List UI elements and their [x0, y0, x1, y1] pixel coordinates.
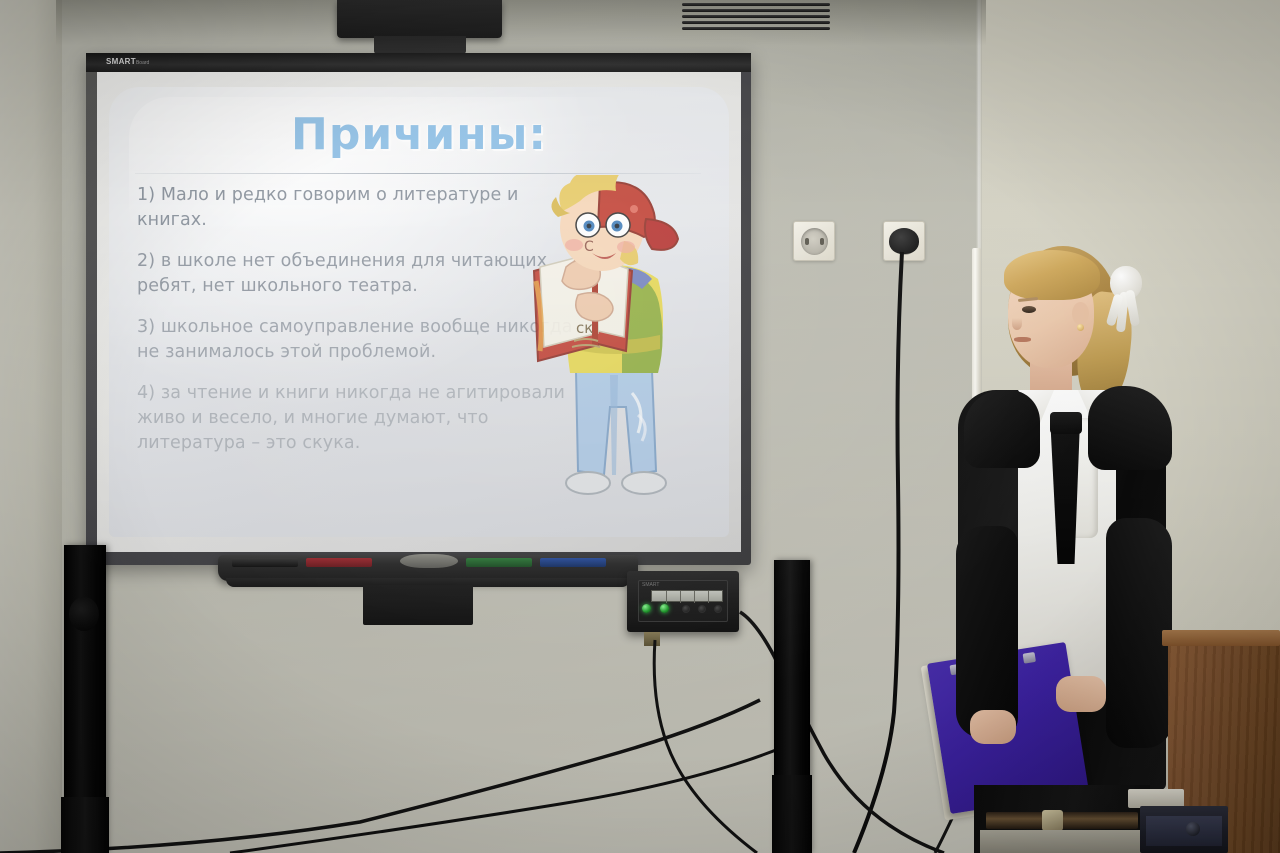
power-led: [642, 604, 651, 613]
clipboard-clip-right: [1023, 652, 1036, 664]
slide-bullet-1: 1) Мало и редко говорим о литературе и к…: [137, 183, 577, 233]
slide-bullet-3: 3) школьное самоуправление вообще никогд…: [137, 315, 577, 365]
slide-title-divider: [135, 173, 701, 174]
desk-top-surface: [1162, 630, 1280, 646]
slide-bullet-4: 4) за чтение и книги никогда не агитиров…: [137, 381, 577, 456]
classroom-scene: SMARTBoard Причины: 1) Мало и редко гово…: [0, 0, 1280, 853]
nose: [1012, 318, 1022, 330]
belt-buckle: [1042, 810, 1063, 831]
arm-left: [956, 526, 1018, 738]
shoulder-right: [1088, 386, 1172, 470]
earring: [1077, 324, 1084, 331]
control-button-1[interactable]: [682, 605, 690, 613]
smart-board-screen[interactable]: Причины: 1) Мало и редко говорим о литер…: [97, 72, 741, 552]
boy-reading-book-illustration: ск: [514, 175, 714, 525]
shoulder-left: [964, 390, 1040, 468]
hand-right: [1056, 676, 1106, 712]
hair-fringe: [1004, 250, 1100, 300]
tie-knot: [1050, 412, 1082, 434]
control-box-display: [651, 590, 723, 602]
slide-bullet-2: 2) в школе нет объединения для читающих …: [137, 249, 577, 299]
power-plug[interactable]: [889, 228, 919, 254]
eye: [1022, 306, 1036, 313]
speaker-right: [774, 560, 810, 853]
smart-board-logo-sub: Board: [136, 60, 149, 66]
eraser[interactable]: [400, 554, 458, 568]
projected-slide: Причины: 1) Мало и редко говорим о литер…: [109, 87, 729, 537]
speaker-left-base: [61, 797, 109, 853]
smart-board-logo: SMARTBoard: [106, 56, 149, 69]
wall-socket-empty[interactable]: [793, 221, 835, 261]
bow-ribbon-2: [1125, 289, 1140, 326]
ear: [1072, 302, 1089, 325]
smart-board-top-bezel: [86, 53, 751, 72]
hand-left: [970, 710, 1016, 744]
projector-vents-icon: [682, 3, 830, 31]
speaker-driver-icon: [69, 597, 99, 631]
control-box-brand-label: SMART: [642, 582, 659, 588]
red-pen[interactable]: [306, 558, 372, 567]
control-button-3[interactable]: [714, 605, 722, 613]
svg-text:С: С: [584, 239, 594, 255]
blue-pen[interactable]: [540, 558, 606, 567]
socket-hole-icon: [801, 228, 828, 255]
control-box-cable-connector: [644, 632, 660, 646]
hair-bow: [1098, 260, 1150, 330]
speaker-left: [64, 545, 106, 853]
control-button-2[interactable]: [698, 605, 706, 613]
green-pen[interactable]: [466, 558, 532, 567]
status-led: [660, 604, 669, 613]
ceiling-shadow: [56, 0, 986, 46]
book-text: ск: [576, 319, 593, 337]
left-wall: [0, 0, 62, 853]
slide-bullet-list: 1) Мало и редко говорим о литературе и к…: [137, 183, 577, 472]
smart-board-logo-text: SMART: [106, 57, 136, 66]
projector-lens-housing: [374, 36, 466, 54]
speaker-right-base: [772, 775, 812, 853]
slide-title: Причины:: [109, 109, 729, 160]
board-mount-bracket: [363, 585, 473, 625]
mouth: [1014, 337, 1031, 342]
ceiling-projector: [337, 0, 502, 38]
black-pen[interactable]: [232, 558, 298, 567]
av-equipment-knob[interactable]: [1186, 822, 1200, 836]
av-equipment-front-panel: [1146, 816, 1222, 846]
